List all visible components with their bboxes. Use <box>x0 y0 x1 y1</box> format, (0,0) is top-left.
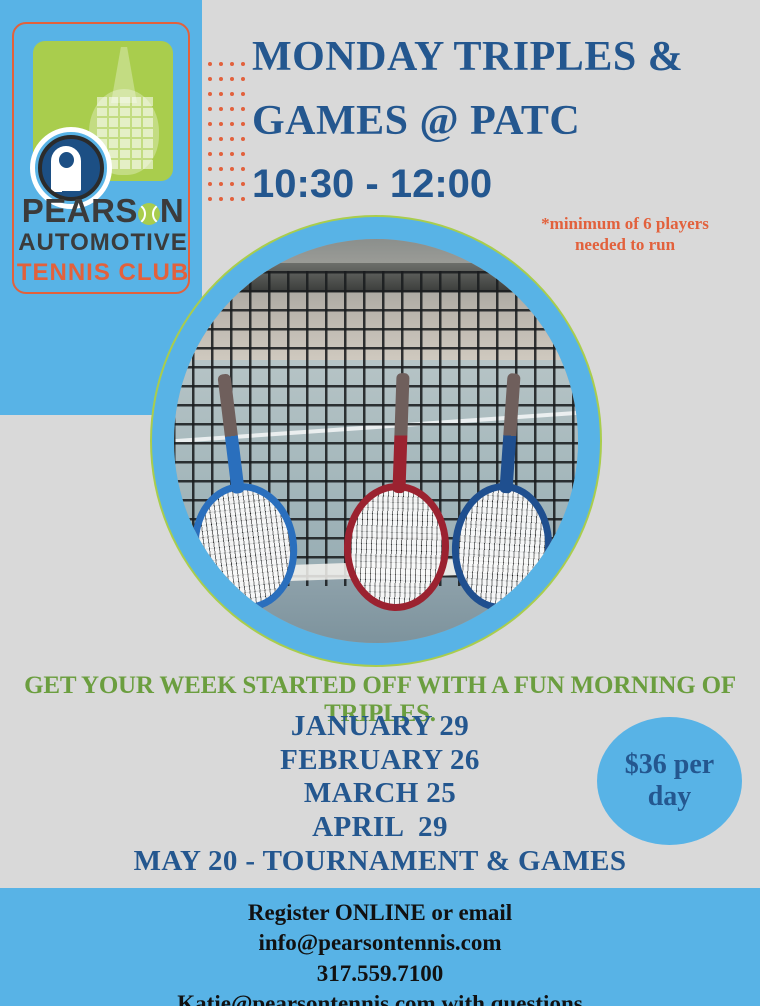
footer-email-katie[interactable]: Katie@pearsontennis.com with questions <box>0 989 760 1006</box>
headline-line-1: MONDAY TRIPLES & <box>252 26 732 90</box>
tennis-racquets-photo <box>152 217 600 665</box>
contact-footer: Register ONLINE or email info@pearsonten… <box>0 888 760 1006</box>
racquet-red-middle <box>342 481 451 613</box>
logo-brand-name-tail: N <box>160 192 184 229</box>
footer-phone[interactable]: 317.559.7100 <box>0 959 760 989</box>
pearson-logo: PEARSN AUTOMOTIVE TENNIS CLUB <box>12 22 190 294</box>
tennis-ball-icon <box>138 203 160 225</box>
footer-register-line: Register ONLINE or email <box>0 898 760 928</box>
footer-email-info[interactable]: info@pearsontennis.com <box>0 928 760 958</box>
racquet-blue-left <box>185 477 305 617</box>
headline-line-2: GAMES @ PATC <box>252 90 732 154</box>
minimum-players-note-line-1: *minimum of 6 players <box>500 213 750 234</box>
price-badge: $36 per day <box>597 717 742 845</box>
logo-automotive-text: AUTOMOTIVE <box>14 229 192 257</box>
price-amount: $36 per <box>625 749 714 780</box>
flyer-page: PEARSN AUTOMOTIVE TENNIS CLUB MONDAY TRI… <box>0 0 760 1006</box>
headline-block: MONDAY TRIPLES & GAMES @ PATC 10:30 - 12… <box>252 26 732 214</box>
logo-tennis-club-text: TENNIS CLUB <box>14 259 192 287</box>
headline-time: 10:30 - 12:00 <box>252 154 732 215</box>
price-unit: day <box>648 781 692 812</box>
logo-brand-name-text: PEARS <box>22 192 138 229</box>
logo-brand-name: PEARSN <box>14 192 192 230</box>
photo-image <box>174 239 578 643</box>
racquet-navy-right <box>448 479 557 614</box>
dot-grid-decoration <box>208 62 252 212</box>
date-item: MAY 20 - TOURNAMENT & GAMES <box>0 845 760 879</box>
